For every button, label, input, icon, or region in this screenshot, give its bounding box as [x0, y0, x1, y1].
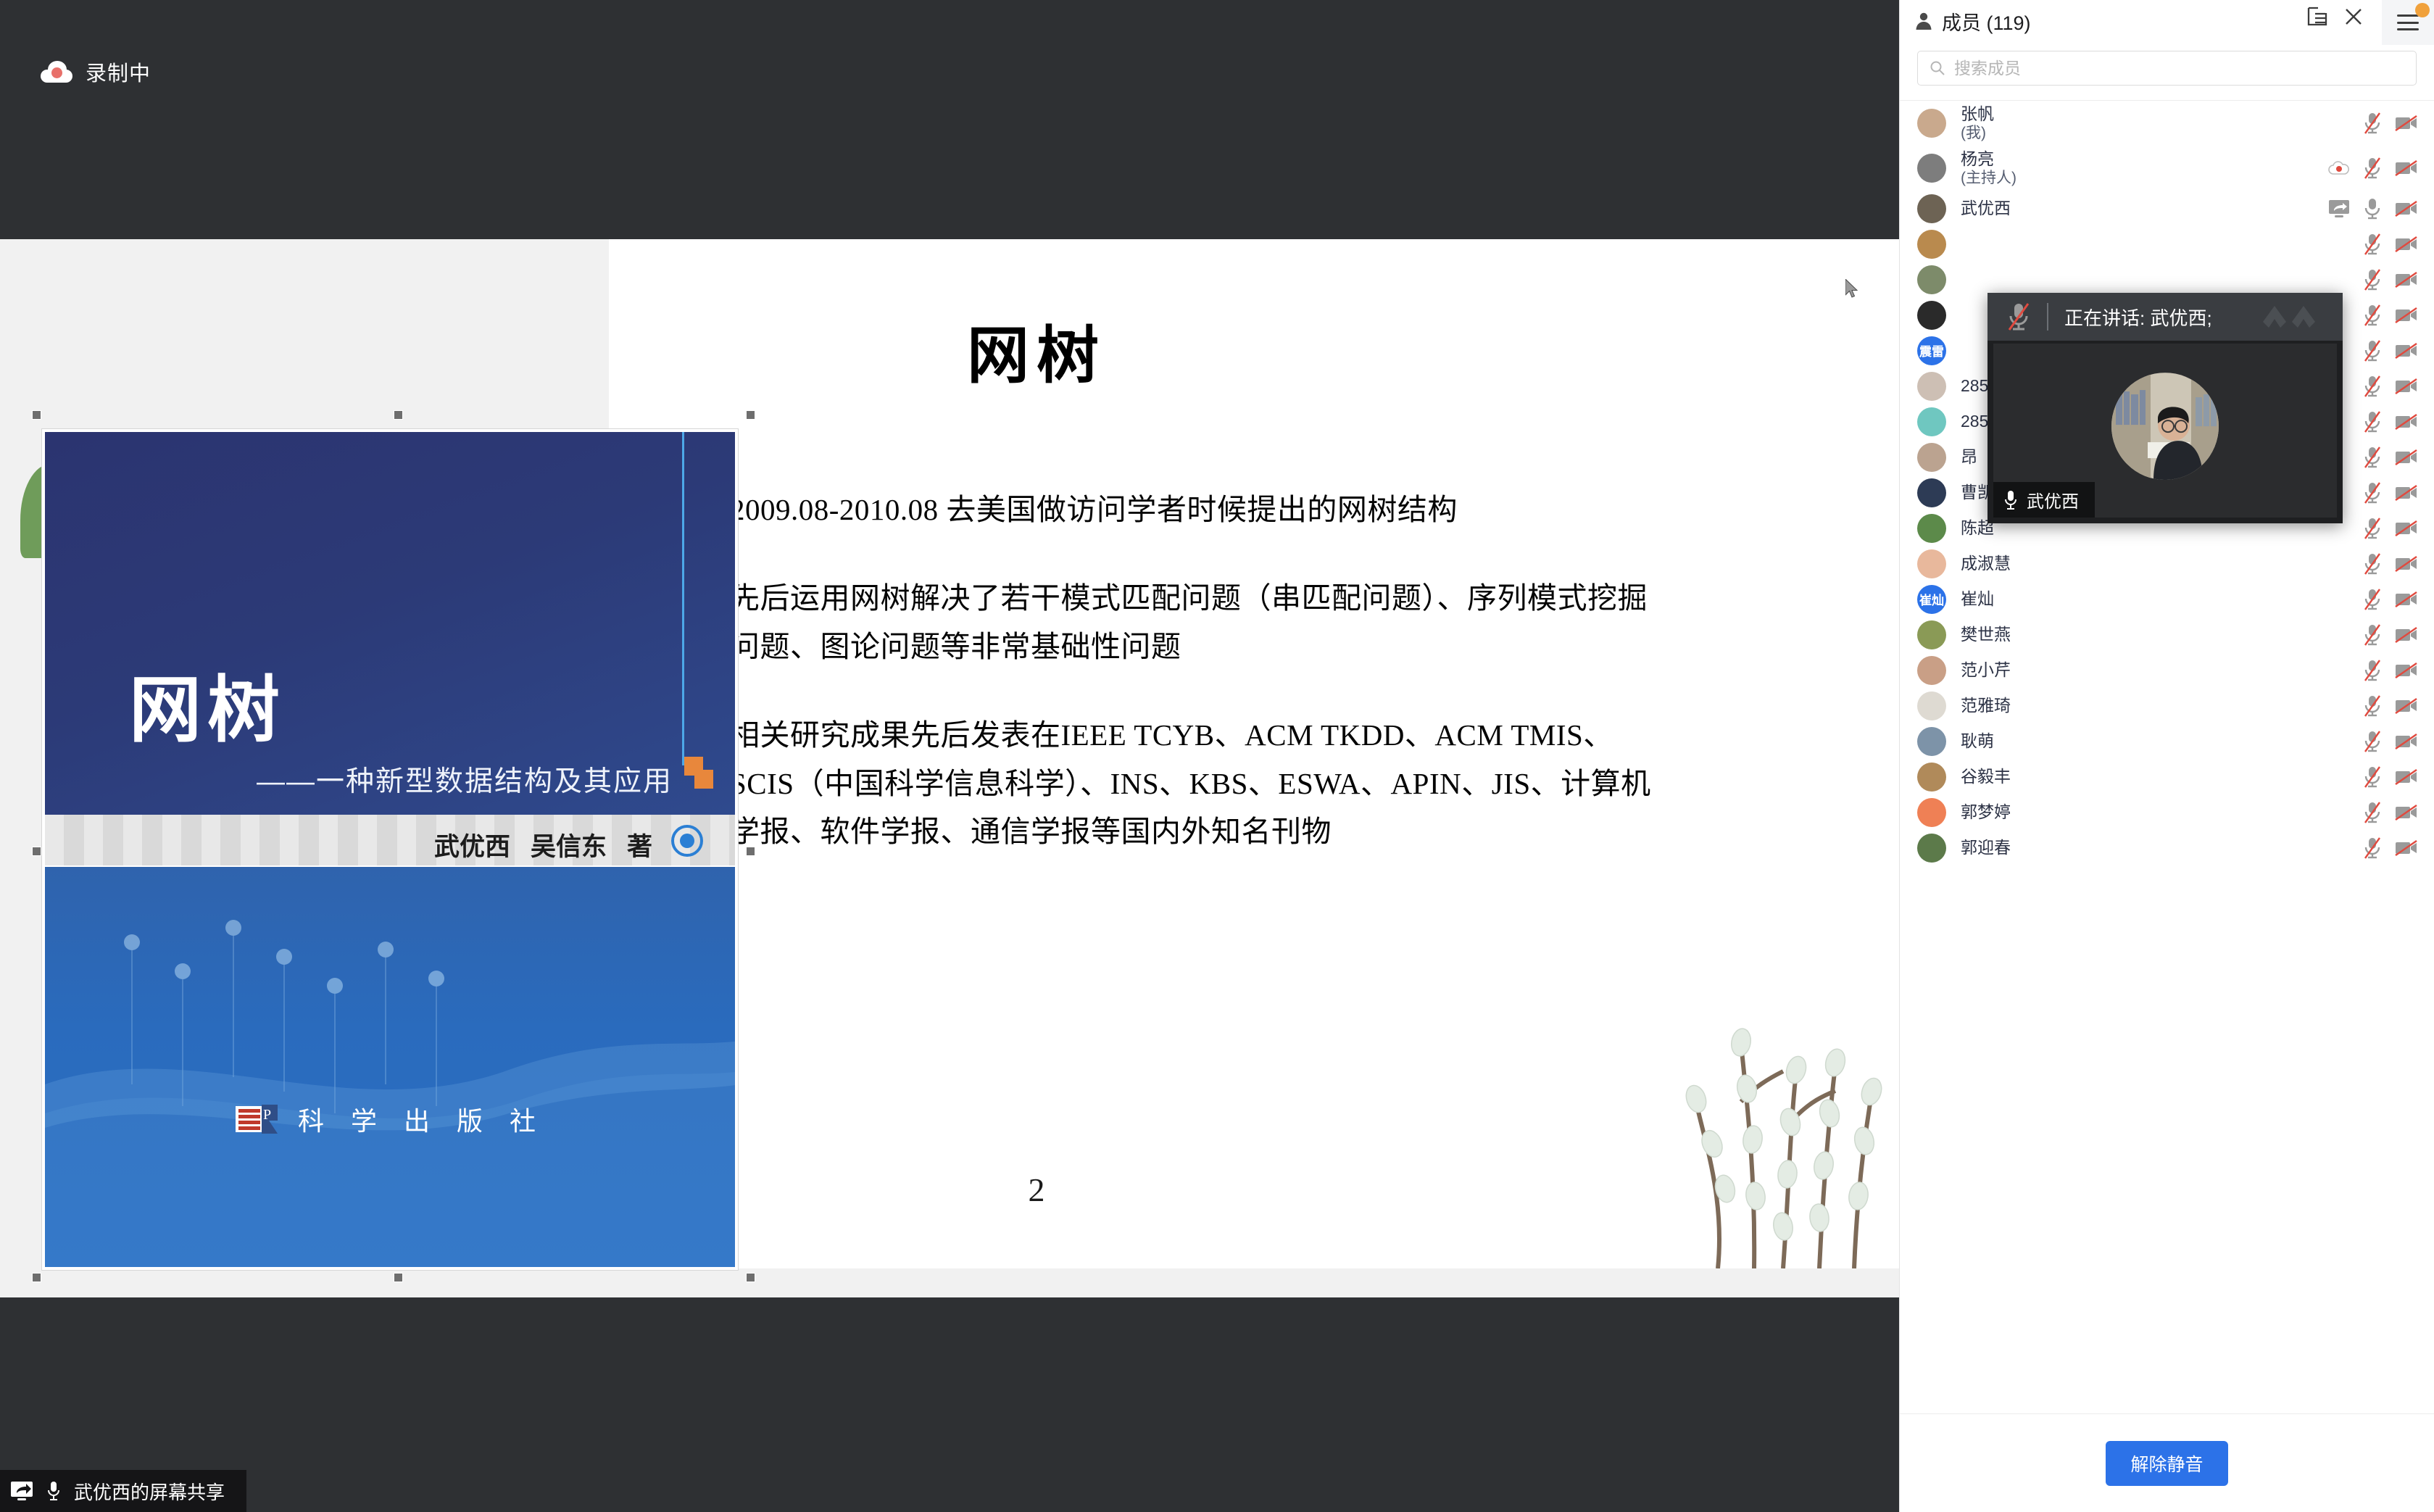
recording-label: 录制中 — [86, 57, 151, 87]
camera-off-icon[interactable] — [2395, 484, 2418, 502]
participant-name: 樊世燕 — [1961, 624, 2348, 645]
svg-text:P: P — [263, 1107, 271, 1123]
participant-name: 张帆 — [1961, 104, 2348, 125]
avatar — [1917, 549, 1946, 578]
screen-share-icon — [10, 1481, 33, 1501]
notification-badge — [2415, 3, 2430, 17]
avatar — [1917, 265, 1946, 294]
participant-name: 崔灿 — [1961, 589, 2348, 610]
participant-row[interactable]: 谷毅丰 — [1900, 759, 2434, 794]
camera-off-icon[interactable] — [2395, 271, 2418, 288]
book-cover: 网树 ——一种新型数据结构及其应用 武优西 吴信东 著 — [42, 429, 738, 1270]
participant-name-block: 范雅琦 — [1961, 695, 2348, 716]
participant-status-icons — [2363, 765, 2418, 789]
avatar-initials: 崔灿 — [1917, 585, 1946, 614]
participant-name: 武优西 — [1961, 198, 2314, 219]
participant-status-icons — [2363, 729, 2418, 754]
accent-line — [682, 432, 684, 765]
participant-name-block: 范小芹 — [1961, 660, 2348, 681]
book-cover-top — [45, 432, 735, 815]
microphone-icon — [46, 1480, 61, 1502]
recording-indicator: 录制中 — [41, 57, 151, 87]
participant-row[interactable]: 郭梦婷 — [1900, 794, 2434, 830]
participant-name-block: 樊世燕 — [1961, 624, 2348, 645]
avatar — [1917, 691, 1946, 720]
book-author-1: 武优西 — [434, 826, 510, 863]
participants-panel-header: 成员 (119) — [1900, 0, 2434, 42]
mic-muted-icon[interactable] — [2363, 481, 2382, 505]
participant-row[interactable]: 武优西 — [1900, 191, 2434, 226]
publisher-name: 科 学 出 版 社 — [298, 1100, 546, 1138]
avatar — [1917, 763, 1946, 792]
mic-muted-icon[interactable] — [2363, 658, 2382, 683]
document-page: 网树 2009.08-2010.08 去美国做访问学者时候提出的网树结构 先后运… — [609, 239, 1899, 1268]
participant-row[interactable]: 成淑慧 — [1900, 546, 2434, 581]
participant-status-icons — [2363, 303, 2418, 328]
mic-muted-icon[interactable] — [2363, 552, 2382, 576]
avatar: 震雷 — [1917, 336, 1946, 365]
avatar — [1917, 478, 1946, 507]
avatar — [1917, 407, 1946, 436]
camera-off-icon[interactable] — [2395, 449, 2418, 466]
mic-muted-icon[interactable] — [2363, 410, 2382, 434]
participant-name: 耿萌 — [1961, 731, 2348, 752]
participants-panel: 成员 (119) — [1899, 0, 2434, 1512]
participant-name: 范小芹 — [1961, 660, 2348, 681]
document-canvas: 网树 2009.08-2010.08 去美国做访问学者时候提出的网树结构 先后运… — [0, 239, 1899, 1297]
orange-square-decoration — [694, 770, 713, 789]
participant-row[interactable]: 樊世燕 — [1900, 617, 2434, 652]
speaker-name: 武优西 — [2027, 487, 2079, 512]
camera-off-icon[interactable] — [2395, 342, 2418, 360]
participant-row[interactable] — [1900, 262, 2434, 297]
camera-off-icon[interactable] — [2395, 236, 2418, 253]
panel-title-group: 成员 (119) — [1914, 7, 2031, 36]
camera-off-icon[interactable] — [2395, 555, 2418, 573]
participant-status-icons — [2363, 232, 2418, 257]
book-authors: 武优西 吴信东 著 — [434, 826, 652, 863]
science-press-logo-icon: P — [234, 1099, 281, 1139]
participant-status-icons — [2363, 587, 2418, 612]
camera-off-icon[interactable] — [2395, 413, 2418, 431]
participant-status-icons — [2363, 445, 2418, 470]
avatar — [1917, 154, 1946, 183]
mouse-cursor-icon — [1845, 279, 1860, 301]
camera-off-icon[interactable] — [2395, 200, 2418, 217]
panel-title: 成员 (119) — [1942, 7, 2031, 36]
mic-muted-icon — [2006, 301, 2031, 333]
camera-off-icon[interactable] — [2395, 115, 2418, 132]
camera-off-icon[interactable] — [2395, 591, 2418, 608]
participant-status-icons — [2363, 516, 2418, 541]
screen-share-label: 武优西的屏幕共享 — [74, 1478, 225, 1505]
avatar — [1917, 194, 1946, 223]
slide-bullet-list: 2009.08-2010.08 去美国做访问学者时候提出的网树结构 先后运用网树… — [703, 486, 1660, 896]
mic-muted-icon[interactable] — [2363, 587, 2382, 612]
cloud-record-icon — [41, 61, 72, 83]
participant-row[interactable] — [1900, 226, 2434, 262]
hamburger-menu-icon[interactable] — [2382, 0, 2434, 45]
participant-row[interactable]: 耿萌 — [1900, 723, 2434, 759]
participant-status-icons — [2363, 481, 2418, 505]
participant-status-icons — [2363, 658, 2418, 683]
bullet-text: 先后运用网树解决了若干模式匹配问题（串匹配问题）、序列模式挖掘问题、图论问题等非… — [730, 574, 1660, 670]
mic-muted-icon[interactable] — [2363, 694, 2382, 718]
speaker-avatar — [2111, 373, 2219, 480]
participant-status-icons — [2363, 694, 2418, 718]
camera-off-icon[interactable] — [2395, 662, 2418, 679]
book-cover-bottom: P 科 学 出 版 社 — [45, 867, 735, 1267]
book-title: 网树 — [129, 674, 286, 747]
avatar — [1917, 620, 1946, 649]
mic-muted-icon[interactable] — [2363, 338, 2382, 363]
mic-muted-icon[interactable] — [2363, 374, 2382, 399]
shared-screen-stage: 录制中 网树 2009.08-2010.08 去美国做访问学者时候提出的网树结构… — [0, 0, 1899, 1512]
book-cover-image[interactable]: 网树 ——一种新型数据结构及其应用 武优西 吴信东 著 — [42, 420, 745, 1272]
bullet-item: 先后运用网树解决了若干模式匹配问题（串匹配问题）、序列模式挖掘问题、图论问题等非… — [703, 574, 1660, 670]
screen-share-status-bar: 武优西的屏幕共享 — [0, 1470, 246, 1512]
avatar — [1917, 834, 1946, 863]
book-author-role: 著 — [627, 826, 652, 863]
bullet-item: 2009.08-2010.08 去美国做访问学者时候提出的网树结构 — [703, 486, 1660, 533]
mic-muted-icon[interactable] — [2363, 232, 2382, 257]
participant-name-block: 耿萌 — [1961, 731, 2348, 752]
participant-status-icons — [2363, 800, 2418, 825]
panel-header-actions — [2306, 6, 2364, 28]
avatar — [1917, 443, 1946, 472]
participant-status-icons — [2328, 196, 2418, 221]
avatar-initials: 震雷 — [1917, 336, 1946, 365]
popout-window-icon[interactable] — [2306, 6, 2328, 28]
avatar — [1917, 301, 1946, 330]
mic-muted-icon[interactable] — [2363, 765, 2382, 789]
speaker-video-area: 武优西 — [1993, 344, 2337, 518]
participant-status-icons — [2363, 552, 2418, 576]
speaker-banner: 正在讲话: 武优西; — [1988, 293, 2343, 341]
participant-status-icons — [2328, 156, 2418, 180]
participant-name: 谷毅丰 — [1961, 766, 2348, 787]
participant-role: (主持人) — [1961, 169, 2314, 188]
camera-off-icon[interactable] — [2395, 839, 2418, 857]
participant-row[interactable]: 范小芹 — [1900, 652, 2434, 688]
participant-name-block: 郭迎春 — [1961, 837, 2348, 858]
book-author-2: 吴信东 — [531, 826, 607, 863]
participant-name-block: 杨亮(主持人) — [1961, 149, 2314, 188]
circle-mark-icon — [671, 825, 703, 857]
mic-muted-icon[interactable] — [2363, 303, 2382, 328]
participant-name-block: 武优西 — [1961, 198, 2314, 219]
willow-branch-decoration — [1674, 957, 1892, 1268]
search-icon — [1930, 60, 1945, 76]
mic-muted-icon[interactable] — [2363, 156, 2382, 180]
avatar — [1917, 656, 1946, 685]
participant-name-block: 谷毅丰 — [1961, 766, 2348, 787]
close-icon[interactable] — [2343, 6, 2364, 28]
avatar — [1917, 727, 1946, 756]
search-input[interactable] — [1954, 59, 2404, 78]
mic-muted-icon[interactable] — [2363, 623, 2382, 647]
participant-name: 郭迎春 — [1961, 837, 2348, 858]
publisher-block: P 科 学 出 版 社 — [45, 1099, 735, 1139]
camera-off-icon[interactable] — [2395, 159, 2418, 177]
screen-share-icon[interactable] — [2328, 199, 2350, 218]
participant-name: 杨亮 — [1961, 149, 2314, 170]
mic-muted-icon[interactable] — [2363, 800, 2382, 825]
slide-title: 网树 — [609, 304, 1464, 395]
avatar — [1917, 109, 1946, 138]
bullet-text: 相关研究成果先后发表在IEEE TCYB、ACM TKDD、ACM TMIS、S… — [730, 711, 1660, 855]
participant-name-block: 郭梦婷 — [1961, 802, 2348, 823]
mic-muted-icon[interactable] — [2363, 267, 2382, 292]
bullet-item: 相关研究成果先后发表在IEEE TCYB、ACM TKDD、ACM TMIS、S… — [703, 711, 1660, 855]
active-speaker-floating-window[interactable]: 正在讲话: 武优西; — [1988, 293, 2343, 523]
participant-status-icons — [2363, 374, 2418, 399]
person-icon — [1914, 12, 1933, 30]
participant-row[interactable]: 崔灿崔灿 — [1900, 581, 2434, 617]
search-box[interactable] — [1917, 51, 2417, 86]
unmute-button[interactable]: 解除静音 — [2106, 1441, 2227, 1486]
participant-name-block: 崔灿 — [1961, 589, 2348, 610]
camera-off-icon[interactable] — [2395, 378, 2418, 395]
camera-off-icon[interactable] — [2395, 520, 2418, 537]
participant-status-icons — [2363, 836, 2418, 860]
bullet-text: 2009.08-2010.08 去美国做访问学者时候提出的网树结构 — [730, 486, 1458, 533]
participant-name-block: 张帆(我) — [1961, 104, 2348, 144]
mic-muted-icon[interactable] — [2363, 729, 2382, 754]
participant-status-icons — [2363, 267, 2418, 292]
participant-status-icons — [2363, 338, 2418, 363]
cloud-record-icon — [2328, 160, 2350, 176]
participant-name: 郭梦婷 — [1961, 802, 2348, 823]
microphone-icon — [2003, 489, 2018, 511]
search-area — [1900, 42, 2434, 100]
mic-muted-icon[interactable] — [2363, 836, 2382, 860]
avatar — [1917, 514, 1946, 543]
avatar — [1917, 798, 1946, 827]
camera-off-icon[interactable] — [2395, 697, 2418, 715]
camera-off-icon[interactable] — [2395, 307, 2418, 324]
camera-off-icon[interactable] — [2395, 626, 2418, 644]
participant-name-block: 成淑慧 — [1961, 553, 2348, 574]
mic-muted-icon[interactable] — [2363, 111, 2382, 136]
wave-dots-graphic — [45, 867, 735, 1267]
panel-footer: 解除静音 — [1900, 1413, 2434, 1512]
mic-muted-icon[interactable] — [2363, 516, 2382, 541]
camera-off-icon[interactable] — [2395, 768, 2418, 786]
camera-off-icon[interactable] — [2395, 804, 2418, 821]
speaking-label: 正在讲话: 武优西; — [2064, 304, 2212, 331]
participant-role: (我) — [1961, 124, 2348, 143]
camera-off-icon[interactable] — [2395, 733, 2418, 750]
participant-row[interactable]: 杨亮(主持人) — [1900, 146, 2434, 191]
avatar — [1917, 372, 1946, 401]
participant-status-icons — [2363, 111, 2418, 136]
app-logo-icon — [2259, 300, 2325, 333]
participant-name: 成淑慧 — [1961, 553, 2348, 574]
avatar: 崔灿 — [1917, 585, 1946, 614]
avatar — [1917, 230, 1946, 259]
mic-muted-icon[interactable] — [2363, 445, 2382, 470]
microphone-icon[interactable] — [2363, 196, 2382, 221]
participant-name: 范雅琦 — [1961, 695, 2348, 716]
speaker-name-badge: 武优西 — [1993, 482, 2095, 518]
participant-status-icons — [2363, 410, 2418, 434]
participant-row[interactable]: 范雅琦 — [1900, 688, 2434, 723]
participant-row[interactable]: 郭迎春 — [1900, 830, 2434, 865]
participant-row[interactable]: 张帆(我) — [1900, 101, 2434, 146]
divider — [2047, 303, 2048, 331]
participant-status-icons — [2363, 623, 2418, 647]
book-subtitle: ——一种新型数据结构及其应用 — [209, 759, 673, 799]
